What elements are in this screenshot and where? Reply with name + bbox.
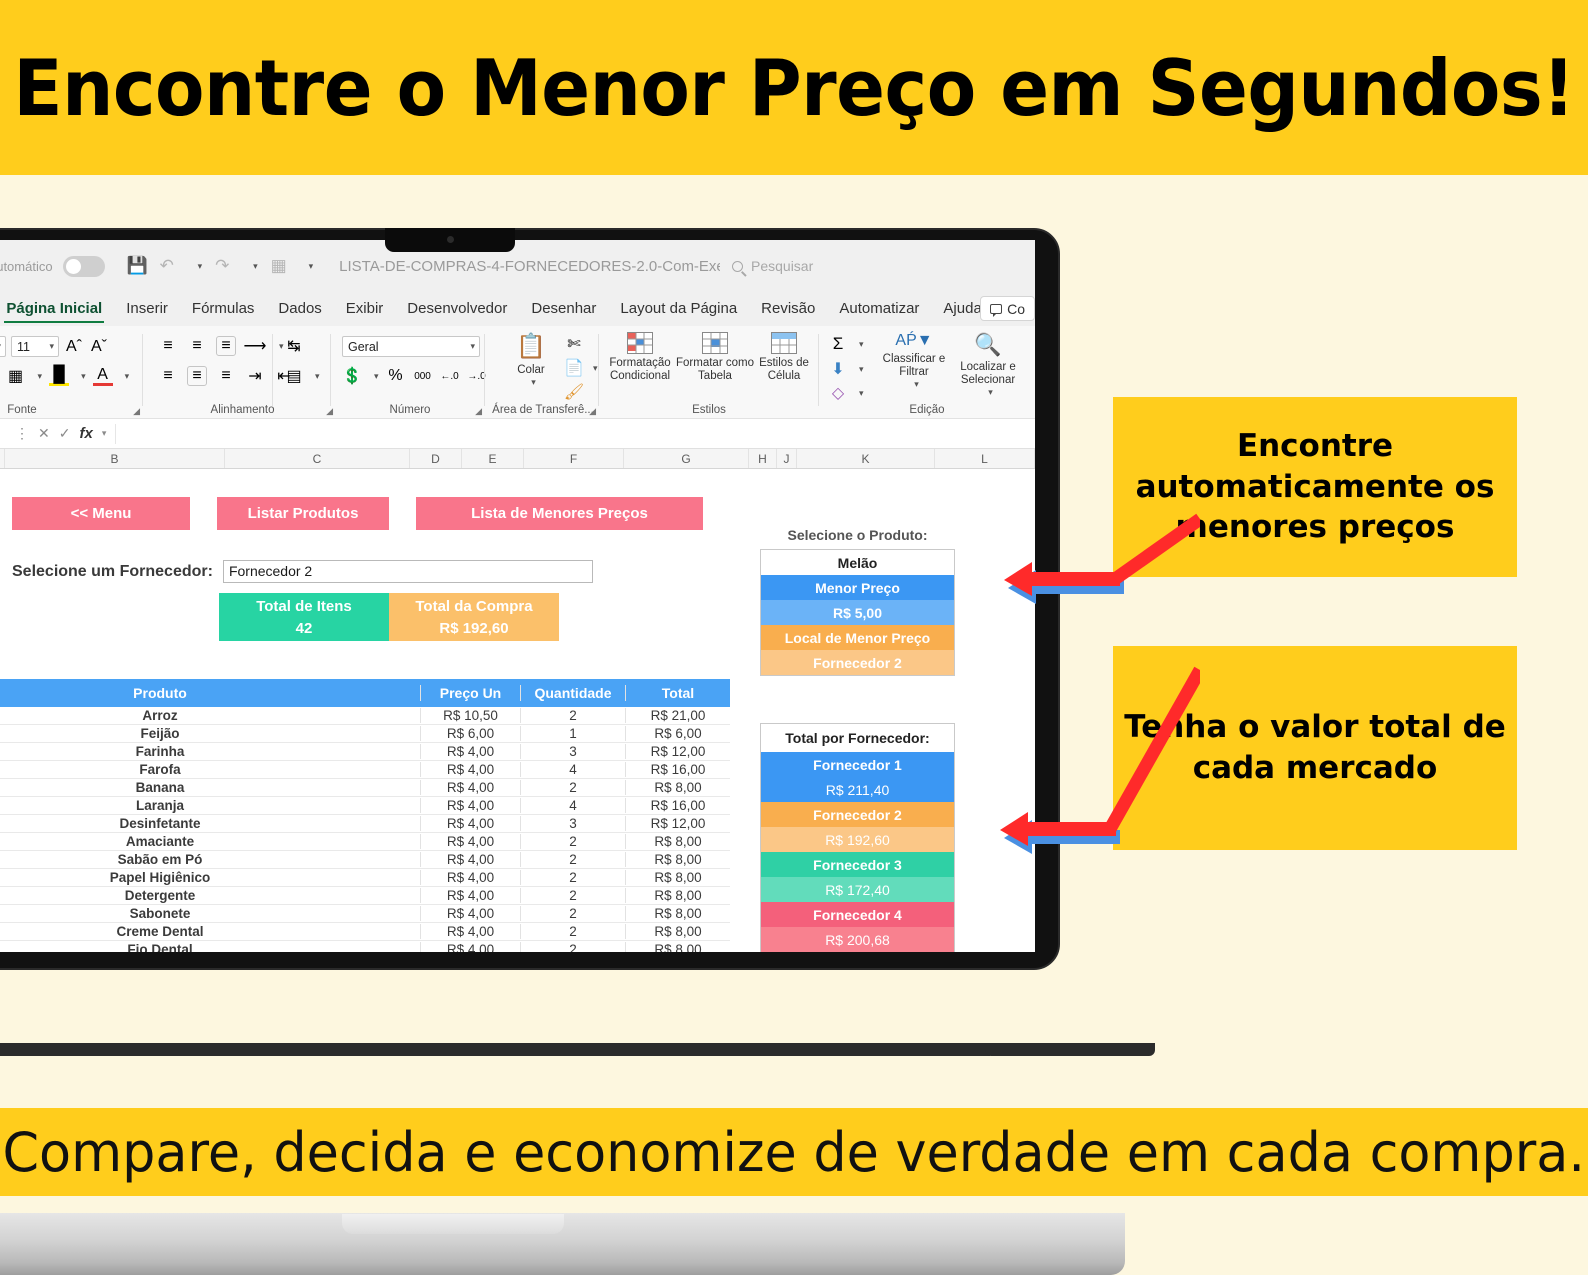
supplier-totals-card: Total por Fornecedor: Fornecedor 1 R$ 21… [760,723,955,952]
ribbon-group-estilos: Formatação Condicional Formatar co [600,326,818,419]
table-row[interactable]: Creme DentalR$ 4,002R$ 8,00 [0,923,730,941]
chevron-down-icon: ▾ [470,341,475,352]
listar-produtos-button[interactable]: Listar Produtos [217,497,389,530]
cell-preco: R$ 4,00 [420,780,520,795]
fornecedor-1-name: Fornecedor 1 [761,752,954,777]
menu-button[interactable]: << Menu [12,497,190,530]
format-painter-icon[interactable]: 🖌 [564,382,584,402]
spreadsheet-canvas: << Menu Listar Produtos Lista de Menores… [0,469,1035,952]
supplier-totals-panel: Total por Fornecedor: Fornecedor 1 R$ 21… [760,723,955,952]
local-menor-preco-value: Fornecedor 2 [761,650,954,675]
font-name-combo[interactable]: ana▾ [0,336,6,357]
insert-function-icon[interactable]: fx [79,425,92,442]
formula-bar-controls: ⋮ ✕ ✓ fx ▾ [6,425,115,442]
font-size-combo[interactable]: 11▾ [11,336,59,357]
clear-icon[interactable]: ◇ [828,383,848,403]
supplier-totals-title: Total por Fornecedor: [761,724,954,752]
cell-produto: Desinfetante [0,816,420,831]
ribbon-group-label-numero: Número [336,404,484,416]
decrease-font-size-icon[interactable]: Aˇ [89,337,109,357]
cell-preco: R$ 4,00 [420,834,520,849]
kpi-total-compra-title: Total da Compra [415,598,532,615]
fornecedor-2-value: R$ 192,60 [761,827,954,852]
comment-icon [990,304,1002,314]
chevron-down-icon: ▾ [0,341,1,352]
webcam-icon [447,236,454,243]
cell-total: R$ 8,00 [625,906,730,921]
laptop-base-shadow [0,1043,990,1056]
th-total: Total [625,685,730,701]
cell-quantidade: 4 [520,762,625,777]
cell-quantidade: 2 [520,708,625,723]
borders-icon[interactable]: ▦ [6,366,26,386]
redo-icon[interactable]: ↷ [215,256,235,276]
cell-produto: Amaciante [0,834,420,849]
table-row[interactable]: Fio DentalR$ 4,002R$ 8,00 [0,941,730,952]
number-format-combo[interactable]: Geral▾ [342,336,480,357]
local-menor-preco-label: Local de Menor Preço [761,625,954,650]
cell-quantidade: 4 [520,798,625,813]
table-row[interactable]: Sabão em PóR$ 4,002R$ 8,00 [0,851,730,869]
cell-produto: Creme Dental [0,924,420,939]
orientation-icon[interactable]: ⟶ [245,336,265,356]
cell-preco: R$ 10,50 [420,708,520,723]
cell-produto: Sabonete [0,906,420,921]
laptop-base-foot [985,1043,1155,1056]
fill-chevron-icon[interactable]: ▾ [859,364,864,375]
top-banner: Encontre o Menor Preço em Segundos! [0,0,1588,175]
formula-bar: ▾ ⋮ ✕ ✓ fx ▾ [0,419,1035,449]
clipboard-dialog-launcher-icon[interactable]: ◢ [589,406,596,417]
arrow-to-supplier-totals [1000,670,1200,854]
column-header-B[interactable]: B [5,449,225,468]
conditional-formatting-icon [627,332,653,354]
find-select-icon: 🔍 [974,332,1001,358]
cell-quantidade: 2 [520,780,625,795]
column-header-H[interactable]: H [749,449,777,468]
th-preco-un: Preço Un [420,685,520,701]
qat-customize-icon[interactable]: ▾ [309,261,314,272]
cell-quantidade: 3 [520,816,625,831]
table-row[interactable]: DetergenteR$ 4,002R$ 8,00 [0,887,730,905]
tab-layout-da-pagina[interactable]: Layout da Página [608,292,749,326]
table-row[interactable]: LaranjaR$ 4,004R$ 16,00 [0,797,730,815]
search-box[interactable]: Pesquisar [720,252,1020,280]
ribbon-divider [484,334,485,406]
fornecedor-1-value: R$ 211,40 [761,777,954,802]
comma-format-icon[interactable]: 000 [413,366,433,386]
column-header-D[interactable]: D [410,449,462,468]
table-row[interactable]: SaboneteR$ 4,002R$ 8,00 [0,905,730,923]
cell-preco: R$ 4,00 [420,924,520,939]
column-header-F[interactable]: F [524,449,624,468]
cell-produto: Papel Higiênico [0,870,420,885]
cell-total: R$ 8,00 [625,780,730,795]
product-panel-title: Selecione o Produto: [760,527,955,543]
annotation-arrows [960,380,1200,880]
conditional-formatting-label: Formatação Condicional [602,357,678,383]
cell-total: R$ 21,00 [625,708,730,723]
search-icon [732,261,743,272]
cell-total: R$ 8,00 [625,942,730,952]
cell-styles-label: Estilos de Célula [752,357,816,383]
kpi-total-da-compra: Total da Compra R$ 192,60 [389,593,559,641]
align-middle-icon[interactable]: ≡ [187,336,207,356]
product-price-card: Melão Menor Preço R$ 5,00 Local de Menor… [760,549,955,676]
cell-quantidade: 2 [520,906,625,921]
align-left-icon[interactable]: ≡ [158,366,178,386]
table-row[interactable]: ArrozR$ 10,502R$ 21,00 [0,707,730,725]
cell-preco: R$ 4,00 [420,798,520,813]
undo-chevron-icon[interactable]: ▾ [198,261,203,272]
ribbon-tab-bar[interactable]: o Página Inicial Inserir Fórmulas Dados … [0,292,1035,326]
ribbon-group-clipboard: 📋 Colar ▾ ✄ 📄 ▾ 🖌 Área de Transferê... ◢ [488,326,598,419]
ribbon-divider [330,334,331,406]
format-as-table-icon [702,332,728,354]
chevron-down-icon: ▾ [49,341,54,352]
sort-filter-icon: AṔ▼ [895,332,932,350]
column-header-C[interactable]: C [225,449,410,468]
currency-chevron-icon[interactable]: ▾ [374,371,379,382]
align-bottom-icon[interactable]: ≡ [216,336,236,356]
clear-chevron-icon[interactable]: ▾ [859,388,864,399]
format-as-table-button[interactable]: Formatar como Tabela [676,332,754,383]
paste-chevron-icon[interactable]: ▾ [531,377,536,388]
cell-preco: R$ 4,00 [420,852,520,867]
supplier-selector-row: Selecione um Fornecedor: Fornecedor 2 [12,560,593,583]
arrow-to-product-card [1004,519,1200,604]
cell-styles-icon [771,332,797,354]
tab-inserir[interactable]: Inserir [114,292,180,326]
ribbon-group-wrap: ↹ ▤ ▾ [278,326,338,419]
kpi-total-itens-value: 42 [296,620,313,637]
cell-total: R$ 12,00 [625,816,730,831]
percent-format-icon[interactable]: % [386,366,406,386]
cell-preco: R$ 4,00 [420,888,520,903]
laptop-mockup: Salvamento Automático 💾 ↶ ▾ ↷ ▾ ▦ ▾ LIST… [0,228,1070,1018]
tab-automatizar[interactable]: Automatizar [827,292,931,326]
quick-access-toolbar[interactable]: 💾 ↶ ▾ ↷ ▾ ▦ ▾ [127,256,314,276]
number-format-value: Geral [348,340,379,354]
tab-dados[interactable]: Dados [266,292,333,326]
autosum-chevron-icon[interactable]: ▾ [859,339,864,350]
tab-revisao[interactable]: Revisão [749,292,827,326]
cell-preco: R$ 4,00 [420,942,520,952]
copy-icon[interactable]: 📄 [564,358,584,378]
excel-title-bar: Salvamento Automático 💾 ↶ ▾ ↷ ▾ ▦ ▾ LIST… [0,240,1035,292]
conditional-formatting-button[interactable]: Formatação Condicional [602,332,678,383]
menor-preco-value: R$ 5,00 [761,600,954,625]
fill-color-chevron-icon[interactable]: ▾ [81,371,86,382]
ribbon-group-label-estilos: Estilos [600,404,818,416]
redo-chevron-icon[interactable]: ▾ [253,261,258,272]
cell-quantidade: 2 [520,942,625,952]
cell-quantidade: 2 [520,924,625,939]
cancel-icon[interactable]: ✕ [38,425,50,442]
cell-quantidade: 3 [520,744,625,759]
supplier-selector-label: Selecione um Fornecedor: [12,563,213,581]
cell-produto: Laranja [0,798,420,813]
comments-button[interactable]: Co [980,296,1035,321]
formula-chevron-icon[interactable]: ▾ [102,428,107,439]
product-table-header: Produto Preço Un Quantidade Total [0,679,730,707]
autosum-icon[interactable]: Σ [828,334,848,354]
cell-preco: R$ 4,00 [420,762,520,777]
tab-pagina-inicial[interactable]: Página Inicial [0,292,114,326]
align-top-icon[interactable]: ≡ [158,336,178,356]
top-banner-headline: Encontre o Menor Preço em Segundos! [13,42,1574,133]
ribbon-group-label-clipboard: Área de Transferê... [488,404,598,416]
cell-produto: Fio Dental [0,942,420,952]
supplier-select[interactable]: Fornecedor 2 [223,560,593,583]
table-row[interactable]: Papel HigiênicoR$ 4,002R$ 8,00 [0,869,730,887]
borders-chevron-icon[interactable]: ▾ [38,371,43,382]
bottom-banner: Compare, decida e economize de verdade e… [0,1108,1588,1196]
fornecedor-2-name: Fornecedor 2 [761,802,954,827]
cell-quantidade: 1 [520,726,625,741]
kpi-row: Total de Itens 42 Total da Compra R$ 192… [219,593,559,641]
cell-produto: Banana [0,780,420,795]
kpi-total-de-itens: Total de Itens 42 [219,593,389,641]
paste-label: Colar [517,364,544,377]
cell-styles-button[interactable]: Estilos de Célula [752,332,816,383]
font-color-icon[interactable]: A [93,366,113,386]
column-header-E[interactable]: E [462,449,524,468]
cell-quantidade: 2 [520,870,625,885]
ribbon-group-label-fonte: Fonte [0,404,142,416]
ribbon-group-fonte: ana▾ 11▾ Aˆ Aˇ N I S ▾ ▦ ▾ █ ▾ [0,326,142,419]
cell-produto: Arroz [0,708,420,723]
action-button-row: << Menu Listar Produtos Lista de Menores… [12,497,703,530]
enter-icon[interactable]: ✓ [59,425,71,442]
fornecedor-4-name: Fornecedor 4 [761,902,954,927]
cut-icon[interactable]: ✄ [564,334,584,354]
increase-decimal-icon[interactable]: ←.0 [440,366,460,386]
formula-input[interactable] [115,424,1035,444]
cell-total: R$ 6,00 [625,726,730,741]
cell-produto: Farinha [0,744,420,759]
column-header-row: A B C D E F G H J K L [0,449,1035,469]
autosave-toggle[interactable] [63,256,105,277]
cell-preco: R$ 4,00 [420,906,520,921]
cell-produto: Detergente [0,888,420,903]
tab-formulas[interactable]: Fórmulas [180,292,267,326]
touch-mode-icon[interactable]: ▦ [271,256,291,276]
merge-chevron-icon[interactable]: ▾ [315,371,320,382]
decrease-indent-icon[interactable]: ⇥ [245,366,265,386]
cell-produto: Feijão [0,726,420,741]
format-as-table-label: Formatar como Tabela [676,357,754,383]
table-row[interactable]: AmacianteR$ 4,002R$ 8,00 [0,833,730,851]
cell-total: R$ 12,00 [625,744,730,759]
table-row[interactable]: FarofaR$ 4,004R$ 16,00 [0,761,730,779]
currency-format-icon[interactable]: 💲 [342,366,362,386]
table-row[interactable]: FeijãoR$ 6,001R$ 6,00 [0,725,730,743]
cell-total: R$ 8,00 [625,834,730,849]
column-header-K[interactable]: K [797,449,935,468]
expand-formula-icon[interactable]: ⋮ [15,425,29,442]
increase-font-size-icon[interactable]: Aˆ [64,337,84,357]
cell-total: R$ 8,00 [625,870,730,885]
column-header-G[interactable]: G [624,449,749,468]
cell-total: R$ 8,00 [625,888,730,903]
kpi-total-compra-value: R$ 192,60 [439,620,508,637]
fornecedor-3-value: R$ 172,40 [761,877,954,902]
ribbon-divider [598,334,599,406]
excel-ribbon: ana▾ 11▾ Aˆ Aˇ N I S ▾ ▦ ▾ █ ▾ [0,326,1035,419]
autosave-label: Salvamento Automático [0,259,53,274]
cell-total: R$ 16,00 [625,798,730,813]
lista-menores-precos-button[interactable]: Lista de Menores Preços [416,497,703,530]
paste-button[interactable]: 📋 Colar ▾ [494,332,568,388]
cell-preco: R$ 4,00 [420,816,520,831]
cell-preco: R$ 4,00 [420,744,520,759]
fill-down-icon[interactable]: ⬇ [828,359,848,379]
merge-cells-icon[interactable]: ▤ [284,366,304,386]
cell-produto: Farofa [0,762,420,777]
fornecedor-3-name: Fornecedor 3 [761,852,954,877]
table-row[interactable]: BananaR$ 4,002R$ 8,00 [0,779,730,797]
sort-filter-label: Classificar e Filtrar [878,353,950,379]
selected-product-value[interactable]: Melão [761,550,954,575]
column-header-J[interactable]: J [777,449,797,468]
undo-icon[interactable]: ↶ [160,256,180,276]
tab-exibir[interactable]: Exibir [334,292,396,326]
cell-preco: R$ 4,00 [420,870,520,885]
table-row[interactable]: FarinhaR$ 4,003R$ 12,00 [0,743,730,761]
copy-chevron-icon[interactable]: ▾ [593,363,598,374]
ribbon-group-numero: Geral▾ 💲 ▾ % 000 ←.0 →.0 Número ◢ [336,326,484,419]
sort-filter-chevron-icon[interactable]: ▾ [914,379,919,390]
align-center-icon[interactable]: ≡ [187,366,207,386]
fill-color-icon[interactable]: █ [49,366,69,386]
th-quantidade: Quantidade [520,685,625,701]
cell-total: R$ 8,00 [625,852,730,867]
font-size-value: 11 [17,340,30,354]
save-icon[interactable]: 💾 [127,256,147,276]
table-row[interactable]: DesinfetanteR$ 4,003R$ 12,00 [0,815,730,833]
fornecedor-4-value: R$ 200,68 [761,927,954,952]
tab-desenhar[interactable]: Desenhar [519,292,608,326]
wrap-text-icon[interactable]: ↹ [284,336,304,356]
product-price-panel: Selecione o Produto: Melão Menor Preço R… [760,527,955,676]
th-produto: Produto [0,685,420,701]
cell-quantidade: 2 [520,834,625,849]
sort-filter-button[interactable]: AṔ▼ Classificar e Filtrar ▾ [878,332,950,390]
cell-produto: Sabão em Pó [0,852,420,867]
ribbon-divider [818,334,819,406]
font-dialog-launcher-icon[interactable]: ◢ [133,406,140,417]
ribbon-divider [142,334,143,406]
menor-preco-label: Menor Preço [761,575,954,600]
bottom-banner-text: Compare, decida e economize de verdade e… [3,1121,1586,1184]
paste-icon: 📋 [516,332,546,361]
comments-button-label: Co [1007,301,1025,317]
number-dialog-launcher-icon[interactable]: ◢ [475,406,482,417]
tab-desenvolvedor[interactable]: Desenvolvedor [395,292,519,326]
laptop-base-notch [342,1214,564,1234]
cell-total: R$ 16,00 [625,762,730,777]
font-color-chevron-icon[interactable]: ▾ [125,371,130,382]
ribbon-divider [272,334,273,406]
cell-quantidade: 2 [520,888,625,903]
cell-total: R$ 8,00 [625,924,730,939]
laptop-screen: Salvamento Automático 💾 ↶ ▾ ↷ ▾ ▦ ▾ LIST… [0,240,1035,952]
cell-preco: R$ 6,00 [420,726,520,741]
product-table: Produto Preço Un Quantidade Total ArrozR… [0,679,730,952]
align-right-icon[interactable]: ≡ [216,366,236,386]
cell-quantidade: 2 [520,852,625,867]
search-placeholder: Pesquisar [751,258,813,274]
kpi-total-itens-title: Total de Itens [256,598,352,615]
